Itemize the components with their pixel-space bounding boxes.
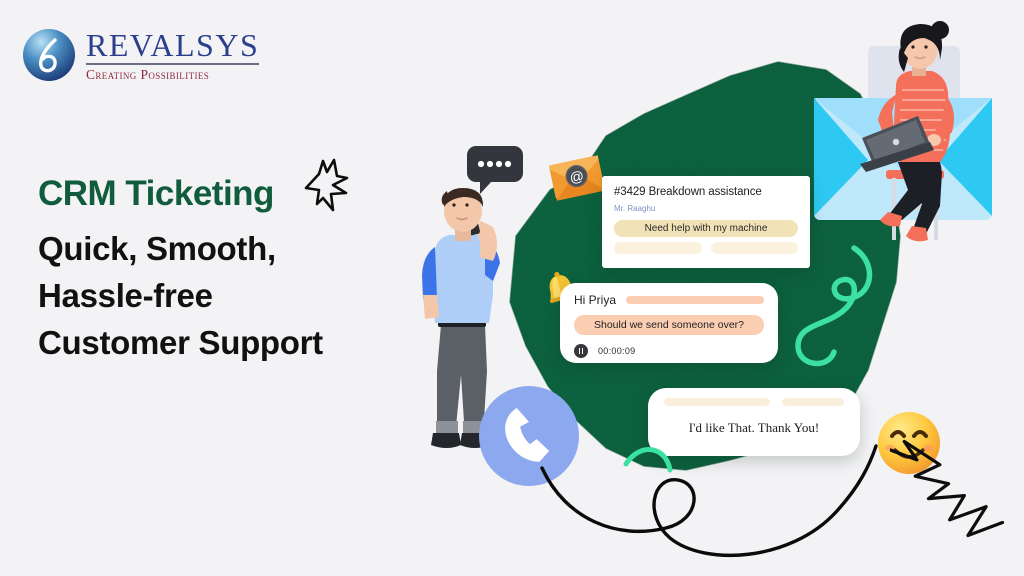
logo-name: REVALSYS [86,29,259,61]
logo-divider [86,63,259,65]
headline-line: Quick, Smooth, [38,225,468,272]
ticket-message: Need help with my machine [614,220,798,237]
placeholder-bar [614,242,702,254]
headline-eyebrow: CRM Ticketing [38,176,468,213]
chat-message: Should we send someone over? [574,315,764,335]
ticket-title: #3429 Breakdown assistance [614,186,798,198]
star-burst-icon [890,430,1008,550]
brand-logo[interactable]: REVALSYS Creating Possibilities [22,28,259,82]
loop-curve-icon [540,440,880,576]
promo-banner: REVALSYS Creating Possibilities CRM Tick… [0,0,1024,576]
placeholder-bar [664,398,770,406]
headline-line: Customer Support [38,319,468,366]
placeholder-bar [626,296,764,304]
headline-block: CRM Ticketing Quick, Smooth, Hassle-free… [38,176,468,366]
woman-with-laptop-illustration [800,20,1015,250]
star-burst-icon [303,158,349,216]
pause-icon[interactable] [574,344,588,358]
placeholder-bar [711,242,799,254]
chat-card[interactable]: Hi Priya Should we send someone over? 00… [560,283,778,363]
placeholder-bar [782,398,844,406]
ticket-placeholder-row [614,242,798,254]
ticket-user: Mr. Raaghu [614,204,798,213]
curly-squiggle-icon [790,240,890,380]
reply-message: I'd like That. Thank You! [664,420,844,436]
chat-greeting: Hi Priya [574,293,616,307]
headline-subtext: Quick, Smooth, Hassle-free Customer Supp… [38,225,468,367]
typing-bubble-icon [466,145,524,195]
swirl-logo-icon [22,28,76,82]
audio-timestamp: 00:00:09 [598,346,635,356]
audio-player[interactable]: 00:00:09 [574,344,764,358]
logo-tagline: Creating Possibilities [86,68,259,82]
ticket-card[interactable]: #3429 Breakdown assistance Mr. Raaghu Ne… [602,176,810,268]
logo-wordmark: REVALSYS Creating Possibilities [86,29,259,81]
chat-header: Hi Priya [574,293,764,307]
reply-placeholder-row [664,398,844,406]
headline-line: Hassle-free [38,272,468,319]
email-at-icon: @ [546,152,608,204]
